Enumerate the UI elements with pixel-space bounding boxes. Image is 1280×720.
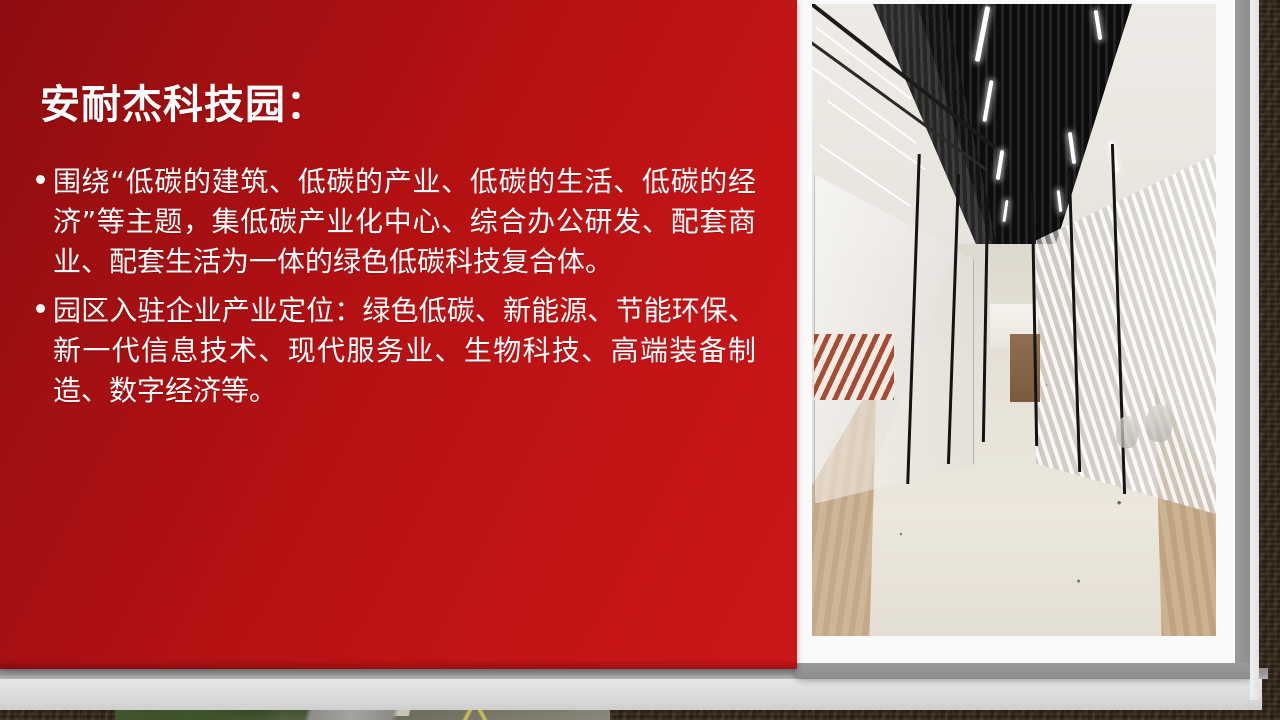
photo-frame-bottom-gutter [795, 663, 1250, 678]
photo-frame-right-gutter [1235, 0, 1250, 678]
bullet-text: 园区入驻企业产业定位：绿色低碳、新能源、节能环保、新一代信息技术、现代服务业、生… [53, 291, 756, 410]
list-item: 围绕“低碳的建筑、低碳的产业、低碳的生活、低碳的经济”等主题，集低碳产业化中心、… [36, 162, 756, 281]
office-chair-1 [1146, 404, 1172, 442]
page-title: 安耐杰科技园： [40, 72, 327, 130]
office-corridor-photo [812, 4, 1216, 636]
slide-mat-sheet [0, 676, 1262, 710]
wall-art-red-stripes [814, 334, 894, 400]
bullet-dot-icon [36, 304, 45, 313]
bullet-dot-icon [36, 175, 45, 184]
bullet-text: 围绕“低碳的建筑、低碳的产业、低碳的生活、低碳的经济”等主题，集低碳产业化中心、… [53, 162, 756, 281]
list-item: 园区入驻企业产业定位：绿色低碳、新能源、节能环保、新一代信息技术、现代服务业、生… [36, 291, 756, 410]
bullet-list: 围绕“低碳的建筑、低碳的产业、低碳的生活、低碳的经济”等主题，集低碳产业化中心、… [36, 162, 756, 421]
content-panel: 安耐杰科技园： 围绕“低碳的建筑、低碳的产业、低碳的生活、低碳的经济”等主题，集… [0, 0, 797, 669]
presentation-slide: 安耐杰科技园： 围绕“低碳的建筑、低碳的产业、低碳的生活、低碳的经济”等主题，集… [0, 0, 1280, 720]
office-chair-2 [1116, 416, 1138, 448]
photo-frame-right-edge [1250, 0, 1259, 700]
